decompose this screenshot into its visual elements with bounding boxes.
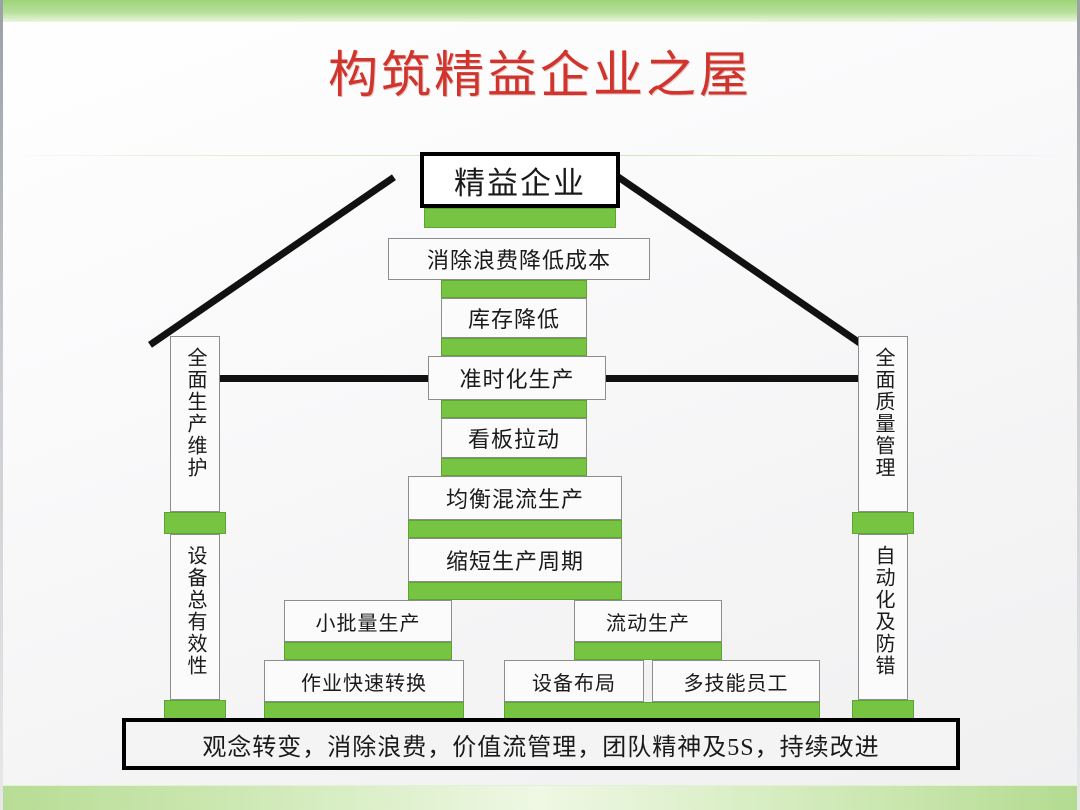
base-upper-label-0: 小批量生产: [316, 607, 421, 636]
tier-label-4: 均衡混流生产: [446, 482, 584, 514]
tier-green-bar-4: [408, 520, 622, 538]
top-decorative-band: [0, 0, 1080, 22]
right-pillar-box-0[interactable]: 全面质量管理: [858, 336, 908, 512]
tier-box-4[interactable]: 均衡混流生产: [408, 476, 622, 520]
tier-label-1: 库存降低: [468, 302, 560, 334]
apex-label: 精益企业: [454, 158, 586, 203]
tier-green-bar-3: [441, 458, 587, 476]
tier-label-2: 准时化生产: [459, 362, 574, 394]
base-upper-box-0[interactable]: 小批量生产: [284, 600, 452, 642]
base-lower-label-0: 作业快速转换: [301, 667, 427, 696]
roof-left-slope: [148, 174, 396, 347]
right-pillar-label-1: 自动化及防错: [873, 545, 893, 677]
left-pillar-box-0[interactable]: 全面生产维护: [170, 336, 220, 512]
tier-green-bar-0: [441, 280, 587, 298]
tier-box-0[interactable]: 消除浪费降低成本: [388, 238, 650, 280]
foundation-label: 观念转变，消除浪费，价值流管理，团队精神及5S，持续改进: [202, 727, 879, 762]
left-pillar-label-0: 全面生产维护: [185, 347, 205, 479]
tier-box-5[interactable]: 缩短生产周期: [408, 538, 622, 582]
left-pillar-green-bar-0: [164, 512, 226, 534]
left-pillar-green-bar-1: [164, 700, 226, 720]
base-lower-box-0[interactable]: 作业快速转换: [264, 660, 464, 702]
right-pillar-green-bar-0: [852, 512, 914, 534]
foundation-box[interactable]: 观念转变，消除浪费，价值流管理，团队精神及5S，持续改进: [122, 718, 960, 770]
tier-green-bar-2: [441, 400, 587, 418]
tier-label-3: 看板拉动: [468, 422, 560, 454]
tier-box-2[interactable]: 准时化生产: [428, 356, 606, 400]
roof-right-slope: [616, 174, 864, 347]
slide-canvas: 构筑精益企业之屋 精益企业 消除浪费降低成本 库存降低 准时化生产 看板拉动 均…: [0, 0, 1080, 810]
page-title: 构筑精益企业之屋: [0, 48, 1080, 103]
left-pillar-label-1: 设备总有效性: [185, 545, 205, 677]
tier-label-5: 缩短生产周期: [446, 544, 584, 576]
tier-box-3[interactable]: 看板拉动: [441, 418, 587, 458]
base-lower-box-2[interactable]: 多技能员工: [652, 660, 820, 702]
base-upper-box-1[interactable]: 流动生产: [574, 600, 722, 642]
base-upper-label-1: 流动生产: [606, 607, 690, 636]
right-pillar-green-bar-1: [852, 700, 914, 720]
apex-box[interactable]: 精益企业: [420, 152, 620, 208]
base-lower-label-1: 设备布局: [532, 667, 616, 696]
tier-box-1[interactable]: 库存降低: [441, 298, 587, 338]
tier-green-bar-5: [408, 582, 622, 600]
bottom-decorative-band: [0, 785, 1080, 810]
left-edge-rule: [0, 0, 3, 810]
base-lower-label-2: 多技能员工: [684, 667, 789, 696]
base-upper-green-bar-0: [284, 642, 452, 660]
tier-green-bar-1: [441, 338, 587, 356]
base-lower-box-1[interactable]: 设备布局: [504, 660, 644, 702]
base-upper-green-bar-1: [574, 642, 722, 660]
right-pillar-label-0: 全面质量管理: [873, 347, 893, 479]
left-pillar-box-1[interactable]: 设备总有效性: [170, 534, 220, 700]
apex-green-bar: [424, 208, 616, 228]
tier-label-0: 消除浪费降低成本: [427, 243, 611, 275]
right-pillar-box-1[interactable]: 自动化及防错: [858, 534, 908, 700]
